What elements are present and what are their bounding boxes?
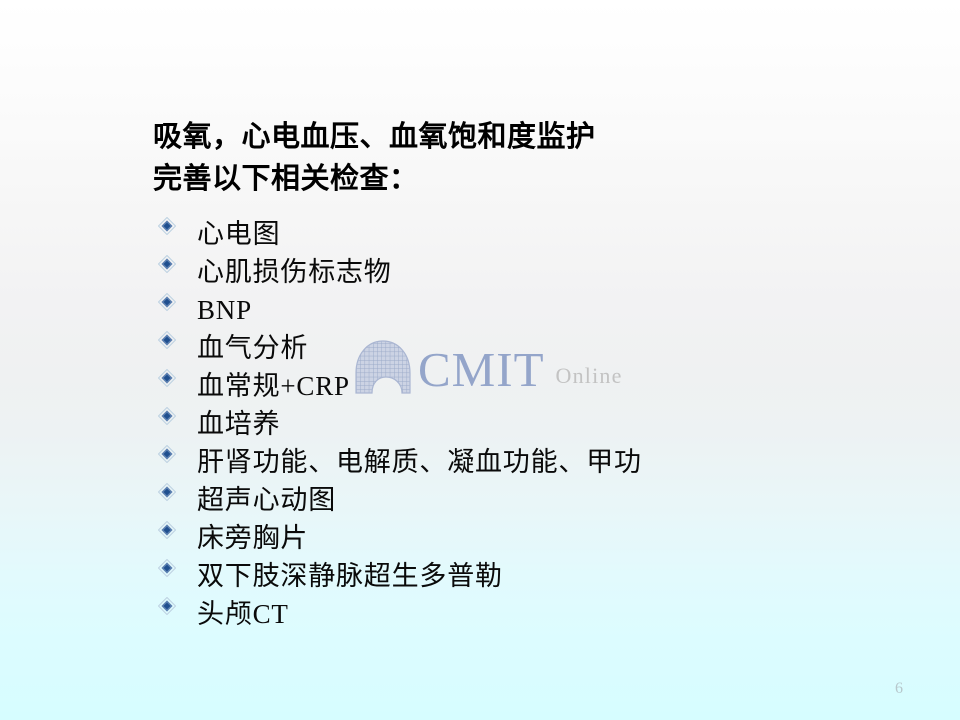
list-item-label: 血气分析 bbox=[197, 329, 308, 367]
diamond-bullet-icon bbox=[153, 585, 197, 623]
diamond-bullet-icon bbox=[153, 395, 197, 433]
diamond-bullet-icon bbox=[153, 357, 197, 395]
slide-canvas: CMIT Online 吸氧，心电血压、血氧饱和度监护 完善以下相关检查： 心电… bbox=[0, 0, 960, 720]
list-item-label: 床旁胸片 bbox=[197, 519, 308, 557]
page-number: 6 bbox=[895, 680, 903, 698]
title-line-1: 吸氧，心电血压、血氧饱和度监护 bbox=[153, 115, 793, 157]
list-item-label: 超声心动图 bbox=[197, 481, 336, 519]
diamond-bullet-icon bbox=[153, 547, 197, 585]
title-line-2: 完善以下相关检查： bbox=[153, 157, 793, 199]
diamond-bullet-icon bbox=[153, 433, 197, 471]
diamond-bullet-icon bbox=[153, 243, 197, 281]
list-item-label: 血培养 bbox=[197, 405, 280, 443]
list-item-label: 心电图 bbox=[197, 215, 280, 253]
list-item: 血气分析 bbox=[153, 319, 913, 357]
list-item-label: 头颅CT bbox=[197, 595, 289, 633]
list-item-label: 肝肾功能、电解质、凝血功能、甲功 bbox=[197, 443, 642, 481]
list-item: 心电图 bbox=[153, 205, 913, 243]
slide-content: 吸氧，心电血压、血氧饱和度监护 完善以下相关检查： 心电图 bbox=[0, 0, 960, 720]
diamond-bullet-icon bbox=[153, 281, 197, 319]
diamond-bullet-icon bbox=[153, 319, 197, 357]
diamond-bullet-icon bbox=[153, 509, 197, 547]
list-item-label: BNP bbox=[197, 291, 252, 329]
diamond-bullet-icon bbox=[153, 471, 197, 509]
slide-title: 吸氧，心电血压、血氧饱和度监护 完善以下相关检查： bbox=[153, 115, 793, 199]
examination-bullet-list: 心电图 心肌损伤标志物 bbox=[153, 205, 913, 623]
list-item-label: 血常规+CRP bbox=[197, 367, 350, 405]
list-item-label: 心肌损伤标志物 bbox=[197, 253, 392, 291]
diamond-bullet-icon bbox=[153, 205, 197, 243]
list-item-label: 双下肢深静脉超生多普勒 bbox=[197, 557, 503, 595]
